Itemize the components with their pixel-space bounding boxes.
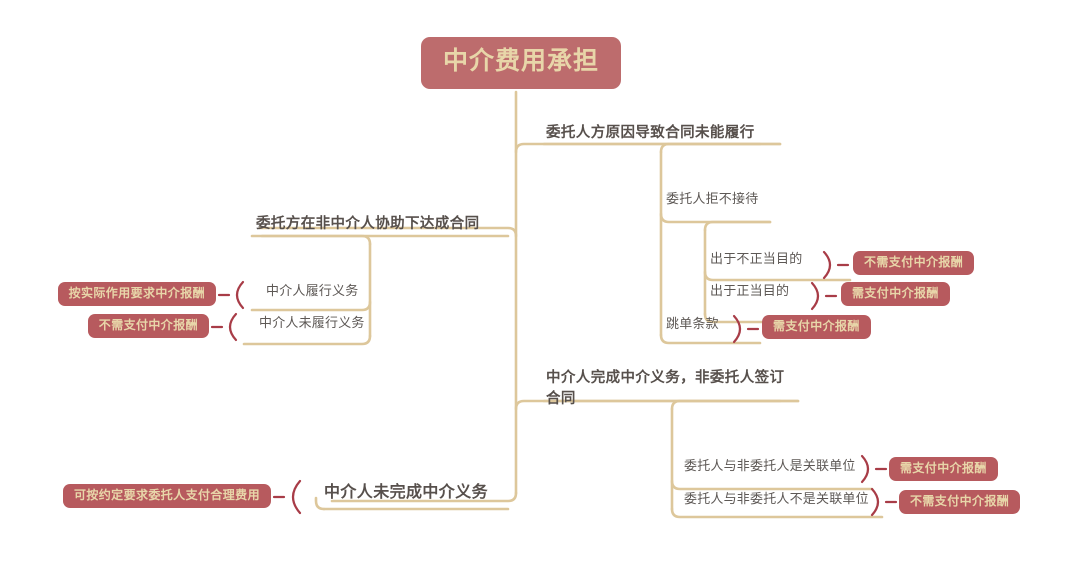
branch-label-b3-line1: 中介人完成中介义务，非委托人签订 xyxy=(546,370,784,386)
leaf-label-b2-c2[interactable]: 中介人未履行义务 xyxy=(259,314,365,332)
branch-label-b3[interactable]: 中介人完成中介义务，非委托人签订合同 xyxy=(546,368,784,410)
leaf-label-b1-c1-d1[interactable]: 出于不正当目的 xyxy=(710,250,802,268)
badge-wrap-b3-c1: 需支付中介报酬 xyxy=(889,457,998,481)
badge-b2-c2[interactable]: 不需支付中介报酬 xyxy=(88,314,209,338)
branch-label-b4[interactable]: 中介人未完成中介义务 xyxy=(324,481,488,504)
badge-wrap-b1-c1-d1: 不需支付中介报酬 xyxy=(853,251,974,275)
leaf-label-b3-c2[interactable]: 委托人与非委托人不是关联单位 xyxy=(684,490,869,508)
badge-b3-c1[interactable]: 需支付中介报酬 xyxy=(889,457,998,481)
badge-b1-c2[interactable]: 需支付中介报酬 xyxy=(762,315,871,339)
leaf-label-b2-c1[interactable]: 中介人履行义务 xyxy=(266,282,358,300)
badge-b1-c1-d2[interactable]: 需支付中介报酬 xyxy=(841,282,950,306)
badge-wrap-b1-c2: 需支付中介报酬 xyxy=(762,315,871,339)
badge-wrap-b4: 可按约定要求委托人支付合理费用 xyxy=(0,484,271,508)
leaf-label-b1-c2[interactable]: 跳单条款 xyxy=(666,315,719,333)
mindmap-canvas: 中介费用承担 委托人方原因导致合同未能履行 委托人拒不接待 出于不正当目的 不需… xyxy=(0,0,1080,569)
badge-wrap-b3-c2: 不需支付中介报酬 xyxy=(899,490,1020,514)
badge-b1-c1-d1[interactable]: 不需支付中介报酬 xyxy=(853,251,974,275)
badge-wrap-b1-c1-d2: 需支付中介报酬 xyxy=(841,282,950,306)
branch-label-b2[interactable]: 委托方在非中介人协助下达成合同 xyxy=(256,214,480,235)
leaf-label-b1-c1[interactable]: 委托人拒不接待 xyxy=(666,190,758,208)
badge-b4[interactable]: 可按约定要求委托人支付合理费用 xyxy=(63,484,271,508)
badge-b2-c1[interactable]: 按实际作用要求中介报酬 xyxy=(58,282,216,306)
branch-label-b3-line2: 合同 xyxy=(546,391,576,407)
root-title-box[interactable]: 中介费用承担 xyxy=(421,37,621,89)
leaf-label-b1-c1-d2[interactable]: 出于正当目的 xyxy=(710,282,789,300)
leaf-label-b3-c1[interactable]: 委托人与非委托人是关联单位 xyxy=(684,457,856,475)
badge-b3-c2[interactable]: 不需支付中介报酬 xyxy=(899,490,1020,514)
badge-wrap-b2-c2: 不需支付中介报酬 xyxy=(0,314,209,338)
badge-wrap-b2-c1: 按实际作用要求中介报酬 xyxy=(0,282,216,306)
branch-label-b1[interactable]: 委托人方原因导致合同未能履行 xyxy=(546,123,755,144)
